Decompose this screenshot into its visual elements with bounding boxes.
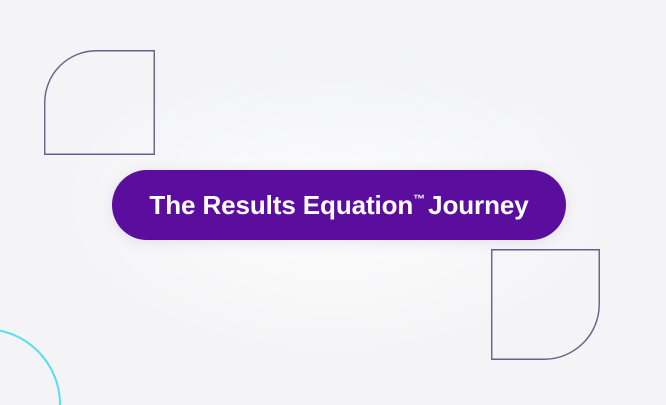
cyan-circle-path (0, 329, 60, 405)
trademark-icon: ™ (413, 193, 425, 205)
quarter-round-top-left-path (45, 51, 155, 155)
slide-canvas: The Results Equation™Journey (0, 0, 666, 405)
title-text-suffix: Journey (428, 192, 528, 218)
quarter-round-bottom-right-path (492, 250, 600, 360)
page-title: The Results Equation™Journey (149, 192, 528, 218)
cyan-circle-bottom-left-shape (0, 328, 61, 405)
title-pill: The Results Equation™Journey (112, 170, 566, 240)
quarter-round-bottom-right-shape (491, 249, 600, 360)
title-text-main: The Results Equation (149, 192, 413, 218)
quarter-round-top-left-shape (44, 50, 155, 155)
